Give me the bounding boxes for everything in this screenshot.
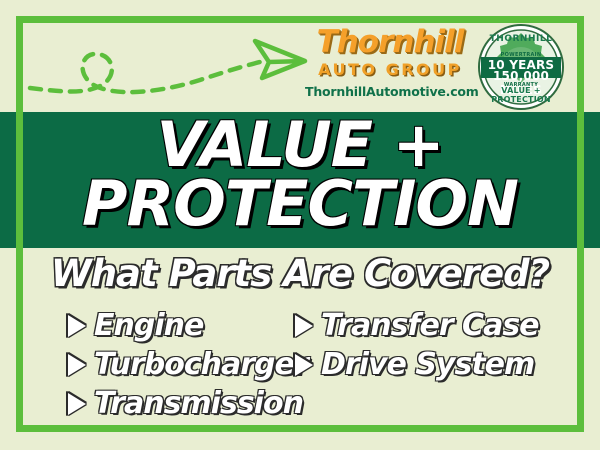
covered-parts-right-column: Transfer Case Drive System (285, 306, 540, 423)
list-item-label: Engine (94, 308, 203, 343)
covered-parts-left-column: Engine Turbocharger Transmission (30, 306, 285, 423)
promo-banner: Thornhill AUTO GROUP ThornhillAutomotive… (0, 0, 600, 450)
list-item-label: Turbocharger (94, 347, 308, 382)
page-title: VALUE + PROTECTION (0, 116, 600, 232)
list-item: Turbocharger (68, 345, 285, 384)
list-item: Engine (68, 306, 285, 345)
seal-bottom-arc: VALUE + PROTECTION (478, 86, 564, 104)
list-item: Transmission (68, 384, 285, 423)
list-item-label: Drive System (321, 347, 534, 382)
triangle-bullet-icon (68, 315, 86, 337)
triangle-bullet-icon (68, 354, 86, 376)
logo-wordmark: Thornhill (305, 27, 475, 58)
list-item: Drive System (295, 345, 540, 384)
covered-parts-question: What Parts Are Covered? (0, 252, 600, 295)
headline-line-1: VALUE + (0, 116, 600, 173)
list-item: Transfer Case (295, 306, 540, 345)
headline-line-2: PROTECTION (0, 175, 600, 232)
dashed-path-arrow-icon (22, 22, 312, 108)
logo-subtitle: AUTO GROUP (305, 62, 475, 78)
triangle-bullet-icon (295, 315, 313, 337)
covered-parts-lists: Engine Turbocharger Transmission Transfe… (30, 306, 570, 423)
triangle-bullet-icon (295, 354, 313, 376)
triangle-bullet-icon (68, 393, 86, 415)
warranty-seal-badge: THORNHILL POWERTRAIN 10 YEARS 150,000 MI… (478, 24, 564, 110)
list-item-label: Transmission (94, 386, 303, 421)
list-item-label: Transfer Case (321, 308, 539, 343)
seal-top-arc: THORNHILL (478, 34, 564, 44)
logo-website: ThornhillAutomotive.com (305, 84, 475, 99)
brand-logo: Thornhill AUTO GROUP ThornhillAutomotive… (305, 24, 475, 104)
